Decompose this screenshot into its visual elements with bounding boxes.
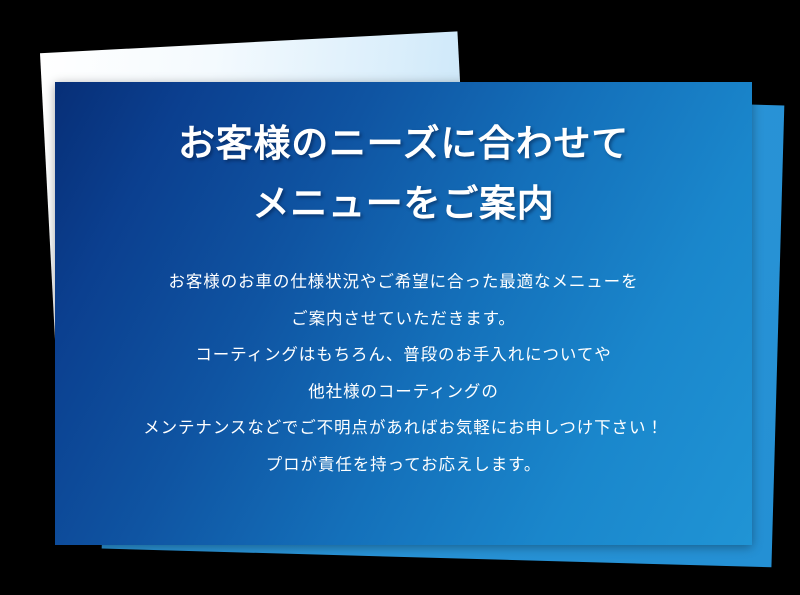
main-card: お客様のニーズに合わせて メニューをご案内 お客様のお車の仕様状況やご希望に合っ…	[55, 82, 752, 545]
heading-line-1: お客様のニーズに合わせて	[55, 114, 752, 174]
banner-heading: お客様のニーズに合わせて メニューをご案内	[55, 114, 752, 234]
body-line-2: ご案内させていただきます。	[55, 301, 752, 338]
banner-body: お客様のお車の仕様状況やご希望に合った最適なメニューを ご案内させていただきます…	[55, 264, 752, 484]
body-line-4: 他社様のコーティングの	[55, 374, 752, 411]
body-line-3: コーティングはもちろん、普段のお手入れについてや	[55, 337, 752, 374]
body-line-6: プロが責任を持ってお応えします。	[55, 447, 752, 484]
banner-stage: お客様のニーズに合わせて メニューをご案内 お客様のお車の仕様状況やご希望に合っ…	[0, 0, 800, 595]
card-content: お客様のニーズに合わせて メニューをご案内 お客様のお車の仕様状況やご希望に合っ…	[55, 82, 752, 545]
body-line-5: メンテナンスなどでご不明点があればお気軽にお申しつけ下さい！	[55, 410, 752, 447]
body-line-1: お客様のお車の仕様状況やご希望に合った最適なメニューを	[55, 264, 752, 301]
heading-line-2: メニューをご案内	[55, 174, 752, 234]
